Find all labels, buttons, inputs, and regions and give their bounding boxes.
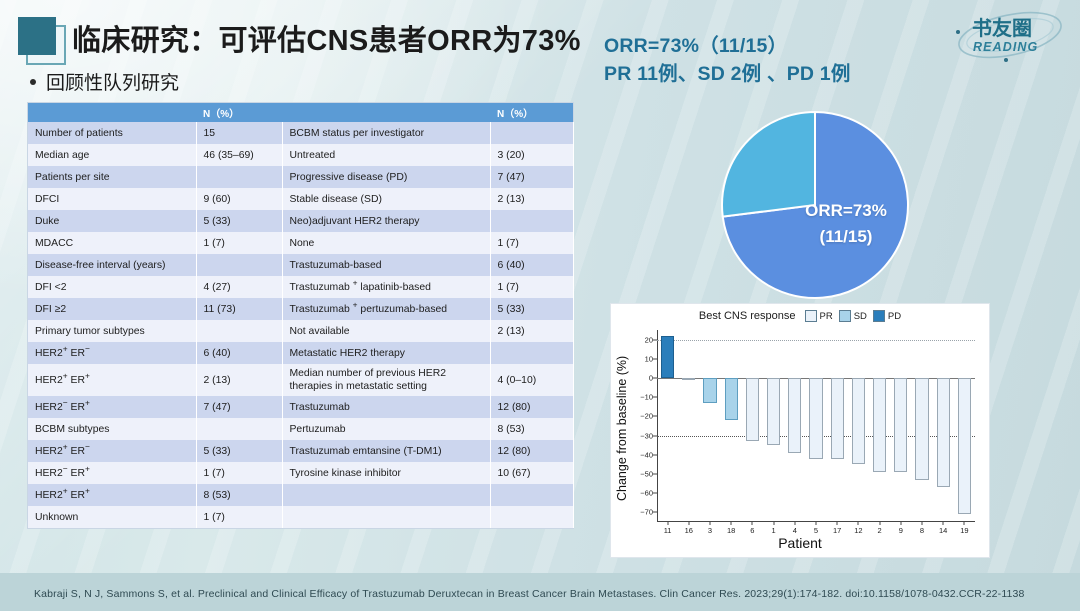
- chart-bar: [831, 378, 844, 459]
- cell-right-label: Pertuzumab: [282, 418, 490, 440]
- y-tick-mark: [653, 397, 657, 398]
- cell-left-label: Unknown: [28, 506, 196, 528]
- cell-left-label: HER2+ ER+: [28, 364, 196, 396]
- cell-right-label: Tyrosine kinase inhibitor: [282, 462, 490, 484]
- legend-swatch-pd: [873, 310, 885, 322]
- cell-left-label: Disease-free interval (years): [28, 254, 196, 276]
- cell-right-label: Progressive disease (PD): [282, 166, 490, 188]
- cell-right-value: 8 (53): [490, 418, 573, 440]
- cell-right-label: Metastatic HER2 therapy: [282, 342, 490, 364]
- orr-summary: ORR=73%（11/15） PR 11例、SD 2例 、PD 1例: [604, 32, 851, 89]
- chart-legend-title: Best CNS response: [699, 310, 796, 322]
- x-tick-mark: [922, 522, 923, 525]
- orr-summary-line2: PR 11例、SD 2例 、PD 1例: [604, 60, 851, 88]
- x-tick-label: 12: [854, 526, 862, 535]
- table-row: DFCI9 (60)Stable disease (SD)2 (13): [28, 188, 573, 210]
- cell-right-value: 1 (7): [490, 276, 573, 298]
- x-tick-mark: [794, 522, 795, 525]
- x-tick-label: 11: [664, 526, 672, 535]
- chart-bar: [682, 378, 695, 380]
- cell-right-value: [490, 506, 573, 528]
- cell-right-label: Not available: [282, 320, 490, 342]
- chart-x-axis-label: Patient: [611, 535, 989, 551]
- cell-left-label: HER2+ ER−: [28, 440, 196, 462]
- cell-left-label: Primary tumor subtypes: [28, 320, 196, 342]
- cell-left-value: 1 (7): [196, 232, 282, 254]
- cell-left-label: DFI <2: [28, 276, 196, 298]
- cell-right-label: Trastuzumab + lapatinib-based: [282, 276, 490, 298]
- chart-bar: [809, 378, 822, 459]
- cell-left-value: [196, 166, 282, 188]
- x-tick-mark: [879, 522, 880, 525]
- x-tick-label: 14: [939, 526, 947, 535]
- cell-right-value: [490, 122, 573, 144]
- chart-bar: [788, 378, 801, 453]
- title-decoration-icon: [18, 17, 62, 61]
- cell-right-value: 5 (33): [490, 298, 573, 320]
- x-tick-mark: [837, 522, 838, 525]
- cell-left-value: 15: [196, 122, 282, 144]
- cell-right-value: 2 (13): [490, 188, 573, 210]
- cell-right-value: 12 (80): [490, 396, 573, 418]
- table-row: HER2+ ER+2 (13)Median number of previous…: [28, 364, 573, 396]
- x-tick-mark: [943, 522, 944, 525]
- col-header-right-label: [282, 103, 490, 122]
- cell-left-value: 5 (33): [196, 440, 282, 462]
- chart-bar: [915, 378, 928, 480]
- col-header-left-value: N（%）: [196, 103, 282, 122]
- cell-left-label: Duke: [28, 210, 196, 232]
- cell-right-label: Untreated: [282, 144, 490, 166]
- cell-right-label: Stable disease (SD): [282, 188, 490, 210]
- cell-left-label: Patients per site: [28, 166, 196, 188]
- chart-legend: Best CNS response PR SD PD: [611, 310, 989, 322]
- x-tick-mark: [752, 522, 753, 525]
- table-header-row: N（%） N（%）: [28, 103, 573, 122]
- cell-right-label: Trastuzumab-based: [282, 254, 490, 276]
- legend-item-sd: SD: [839, 310, 867, 322]
- cell-right-label: Median number of previous HER2 therapies…: [282, 364, 490, 396]
- legend-swatch-sd: [839, 310, 851, 322]
- cell-left-label: DFI ≥2: [28, 298, 196, 320]
- cell-left-value: [196, 418, 282, 440]
- subtitle-bullet: 回顾性队列研究: [30, 68, 179, 95]
- y-tick-mark: [653, 416, 657, 417]
- y-tick-mark: [653, 454, 657, 455]
- cell-left-label: Median age: [28, 144, 196, 166]
- table-row: HER2− ER+7 (47)Trastuzumab12 (80): [28, 396, 573, 418]
- chart-bar: [725, 378, 738, 420]
- cell-right-label: Trastuzumab + pertuzumab-based: [282, 298, 490, 320]
- legend-label-sd: SD: [854, 311, 867, 322]
- cell-right-value: 3 (20): [490, 144, 573, 166]
- cell-right-label: [282, 484, 490, 506]
- legend-item-pr: PR: [805, 310, 833, 322]
- bullet-point-icon: [30, 79, 36, 85]
- x-tick-mark: [858, 522, 859, 525]
- table-row: HER2+ ER+8 (53): [28, 484, 573, 506]
- cell-right-value: [490, 210, 573, 232]
- cell-right-value: 7 (47): [490, 166, 573, 188]
- table-row: Disease-free interval (years)Trastuzumab…: [28, 254, 573, 276]
- x-tick-mark: [688, 522, 689, 525]
- table-row: Duke5 (33)Neo)adjuvant HER2 therapy: [28, 210, 573, 232]
- best-cns-response-chart: Best CNS response PR SD PD Change from b…: [610, 303, 990, 558]
- table-row: Unknown1 (7): [28, 506, 573, 528]
- page-title: 临床研究：可评估CNS患者ORR为73%: [72, 17, 581, 59]
- table-row: Patients per siteProgressive disease (PD…: [28, 166, 573, 188]
- y-tick-mark: [653, 493, 657, 494]
- logo-english-text: READING: [973, 40, 1038, 54]
- cell-left-value: 7 (47): [196, 396, 282, 418]
- x-tick-mark: [667, 522, 668, 525]
- cell-right-value: 2 (13): [490, 320, 573, 342]
- cell-left-value: [196, 320, 282, 342]
- cell-left-value: 5 (33): [196, 210, 282, 232]
- cell-right-value: 6 (40): [490, 254, 573, 276]
- col-header-left-label: [28, 103, 196, 122]
- cell-left-value: 11 (73): [196, 298, 282, 320]
- cell-right-label: Trastuzumab: [282, 396, 490, 418]
- x-tick-mark: [710, 522, 711, 525]
- x-tick-label: 3: [708, 526, 712, 535]
- cell-left-value: 9 (60): [196, 188, 282, 210]
- logo-chinese-text: 书友圈: [972, 16, 1032, 40]
- table-row: DFI <24 (27)Trastuzumab + lapatinib-base…: [28, 276, 573, 298]
- x-tick-label: 19: [960, 526, 968, 535]
- chart-y-axis-label: Change from baseline (%): [613, 338, 631, 518]
- x-tick-label: 8: [920, 526, 924, 535]
- cell-right-value: [490, 484, 573, 506]
- chart-plot-area: 20100−10−20−30−40−50−60−70: [657, 330, 975, 522]
- chart-bar: [937, 378, 950, 487]
- x-tick-mark: [964, 522, 965, 525]
- x-tick-label: 2: [878, 526, 882, 535]
- table-row: DFI ≥211 (73)Trastuzumab + pertuzumab-ba…: [28, 298, 573, 320]
- cell-left-label: HER2+ ER+: [28, 484, 196, 506]
- legend-label-pr: PR: [820, 311, 833, 322]
- y-axis-line: [657, 330, 658, 522]
- x-tick-label: 9: [899, 526, 903, 535]
- cell-right-label: Neo)adjuvant HER2 therapy: [282, 210, 490, 232]
- x-tick-mark: [900, 522, 901, 525]
- pie-center-label: ORR=73% (11/15): [786, 198, 906, 249]
- cell-left-value: 4 (27): [196, 276, 282, 298]
- y-tick-mark: [653, 512, 657, 513]
- cell-left-value: 2 (13): [196, 364, 282, 396]
- cell-left-label: Number of patients: [28, 122, 196, 144]
- chart-bar: [661, 336, 674, 378]
- cell-right-value: 12 (80): [490, 440, 573, 462]
- x-tick-mark: [731, 522, 732, 525]
- cell-left-value: [196, 254, 282, 276]
- chart-bar: [703, 378, 716, 403]
- x-tick-mark: [773, 522, 774, 525]
- x-tick-label: 4: [793, 526, 797, 535]
- cell-left-label: BCBM subtypes: [28, 418, 196, 440]
- reference-line: [657, 340, 975, 341]
- chart-bar: [894, 378, 907, 472]
- brand-logo: 书友圈 READING: [946, 4, 1074, 66]
- table-row: BCBM subtypesPertuzumab8 (53): [28, 418, 573, 440]
- x-tick-label: 17: [833, 526, 841, 535]
- x-tick-label: 5: [814, 526, 818, 535]
- table-row: HER2− ER+1 (7)Tyrosine kinase inhibitor1…: [28, 462, 573, 484]
- table-row: HER2+ ER−6 (40)Metastatic HER2 therapy: [28, 342, 573, 364]
- legend-item-pd: PD: [873, 310, 901, 322]
- table-row: HER2+ ER−5 (33)Trastuzumab emtansine (T-…: [28, 440, 573, 462]
- cell-right-label: None: [282, 232, 490, 254]
- col-header-right-value: N（%）: [490, 103, 573, 122]
- legend-swatch-pr: [805, 310, 817, 322]
- cell-right-value: 10 (67): [490, 462, 573, 484]
- y-tick-mark: [653, 474, 657, 475]
- chart-bar: [746, 378, 759, 441]
- cell-left-value: 6 (40): [196, 342, 282, 364]
- table-row: Number of patients15BCBM status per inve…: [28, 122, 573, 144]
- table-row: MDACC1 (7)None1 (7): [28, 232, 573, 254]
- table-row: Median age46 (35–69)Untreated3 (20): [28, 144, 573, 166]
- cell-left-value: 1 (7): [196, 462, 282, 484]
- cell-right-label: BCBM status per investigator: [282, 122, 490, 144]
- pie-label-line2: (11/15): [786, 224, 906, 250]
- cell-left-value: 8 (53): [196, 484, 282, 506]
- chart-bar: [958, 378, 971, 514]
- x-tick-mark: [816, 522, 817, 525]
- x-tick-label: 18: [727, 526, 735, 535]
- cell-right-label: [282, 506, 490, 528]
- y-tick-mark: [653, 358, 657, 359]
- chart-bar: [767, 378, 780, 445]
- cell-left-value: 46 (35–69): [196, 144, 282, 166]
- cell-left-value: 1 (7): [196, 506, 282, 528]
- chart-bar: [852, 378, 865, 464]
- pie-label-line1: ORR=73%: [786, 198, 906, 224]
- subtitle-text: 回顾性队列研究: [46, 68, 179, 95]
- cell-right-value: [490, 342, 573, 364]
- chart-bar: [873, 378, 886, 472]
- cell-right-value: 4 (0–10): [490, 364, 573, 396]
- patient-characteristics-table: N（%） N（%） Number of patients15BCBM statu…: [28, 103, 573, 528]
- cell-right-label: Trastuzumab emtansine (T-DM1): [282, 440, 490, 462]
- x-tick-label: 16: [685, 526, 693, 535]
- cell-left-label: MDACC: [28, 232, 196, 254]
- cell-left-label: HER2− ER+: [28, 462, 196, 484]
- x-tick-label: 1: [772, 526, 776, 535]
- legend-label-pd: PD: [888, 311, 901, 322]
- cell-left-label: HER2+ ER−: [28, 342, 196, 364]
- cell-right-value: 1 (7): [490, 232, 573, 254]
- cell-left-label: DFCI: [28, 188, 196, 210]
- x-tick-label: 6: [750, 526, 754, 535]
- cell-left-label: HER2− ER+: [28, 396, 196, 418]
- orr-summary-line1: ORR=73%（11/15）: [604, 32, 851, 60]
- citation-text: Kabraji S, N J, Sammons S, et al. Precli…: [34, 588, 1025, 600]
- table-row: Primary tumor subtypesNot available2 (13…: [28, 320, 573, 342]
